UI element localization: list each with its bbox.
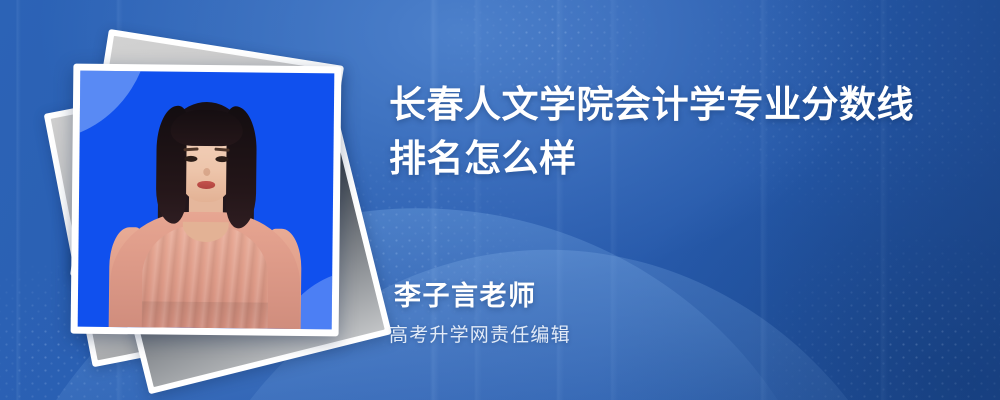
portrait-nose (203, 168, 210, 176)
portrait-eye-left (184, 156, 197, 162)
article-cover-banner: 长春人文学院会计学专业分数线排名怎么样 李子言老师 高考升学网责任编辑 (0, 0, 1000, 400)
portrait-eye-right (215, 156, 228, 162)
portrait-waistline (142, 301, 268, 328)
text-column: 长春人文学院会计学专业分数线排名怎么样 李子言老师 高考升学网责任编辑 (389, 0, 969, 400)
portrait-lips (197, 181, 215, 189)
author-photo-card (71, 64, 342, 337)
photo-stack (60, 48, 350, 348)
portrait-bangs (171, 110, 243, 147)
author-photo (78, 71, 335, 330)
portrait-illustration (80, 95, 332, 330)
author-role: 高考升学网责任编辑 (389, 320, 571, 347)
author-name: 李子言老师 (394, 274, 537, 313)
page-title: 长春人文学院会计学专业分数线排名怎么样 (389, 78, 949, 186)
